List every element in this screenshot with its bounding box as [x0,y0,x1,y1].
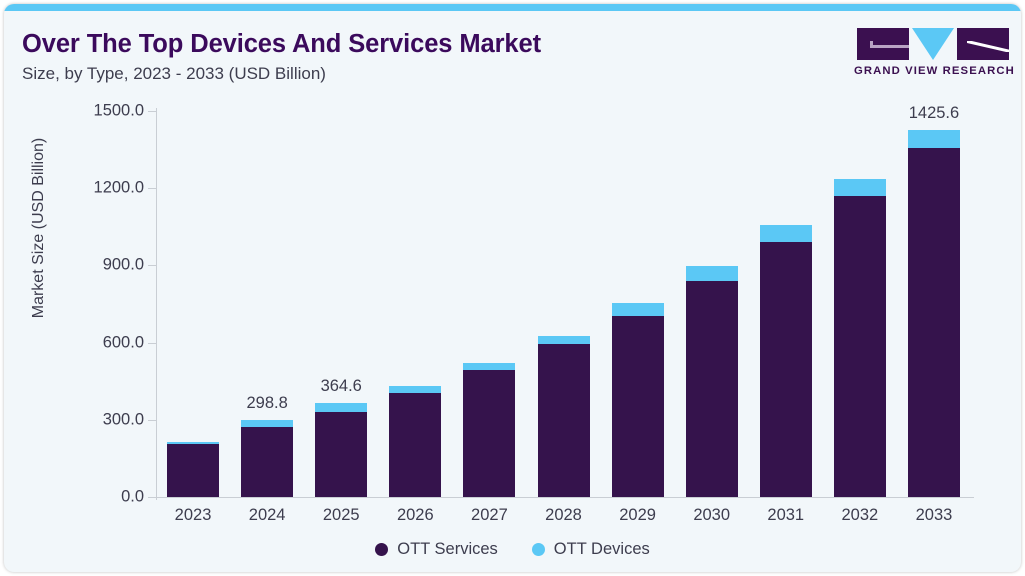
y-axis-tick-label: 1200.0 [54,179,144,198]
bar-segment-ott-services[interactable] [686,281,738,497]
x-axis-tick-label: 2033 [894,506,974,525]
bar-segment-ott-services[interactable] [908,148,960,497]
bar-group[interactable] [167,442,219,497]
bar-value-label: 364.6 [321,377,362,396]
y-axis-tick-label: 900.0 [54,256,144,275]
x-axis-tick-label: 2025 [301,506,381,525]
y-axis-tick [148,420,156,421]
y-axis-tick [148,111,156,112]
logo-triangle-icon [912,28,954,60]
logo-left-tick-icon [870,41,873,46]
legend-label: OTT Devices [554,540,650,559]
legend-swatch-icon [532,543,545,556]
bar-segment-ott-services[interactable] [760,242,812,497]
bar-segment-ott-devices[interactable] [686,266,738,281]
bar-segment-ott-services[interactable] [538,344,590,497]
bar-group[interactable]: 364.6 [315,403,367,497]
bar-segment-ott-devices[interactable] [463,363,515,370]
x-axis-line [156,497,974,498]
x-axis-tick-label: 2031 [746,506,826,525]
accent-top-bar [4,4,1021,11]
chart-legend: OTT ServicesOTT Devices [4,540,1021,559]
bar-group[interactable]: 298.8 [241,420,293,497]
bar-segment-ott-devices[interactable] [389,386,441,393]
bar-segment-ott-services[interactable] [834,196,886,497]
bar-segment-ott-devices[interactable] [538,336,590,344]
x-axis-tick-label: 2028 [524,506,604,525]
plot-area: 298.8364.61425.6 [156,111,971,497]
y-axis-tick-label: 0.0 [54,488,144,507]
bar-segment-ott-services[interactable] [612,316,664,497]
bar-segment-ott-devices[interactable] [760,225,812,242]
bar-segment-ott-devices[interactable] [241,420,293,427]
y-axis-tick [148,265,156,266]
bar-segment-ott-services[interactable] [241,427,293,497]
bar-segment-ott-services[interactable] [389,393,441,497]
logo-marks [854,28,1009,60]
y-axis-tick [148,343,156,344]
bar-group[interactable] [538,336,590,497]
bar-value-label: 1425.6 [909,104,959,123]
x-axis-tick-label: 2030 [672,506,752,525]
legend-item-ott-devices[interactable]: OTT Devices [532,540,650,559]
x-axis-tick-label: 2026 [375,506,455,525]
bar-group[interactable]: 1425.6 [908,130,960,497]
y-axis-tick-label: 300.0 [54,410,144,429]
y-axis-tick [148,188,156,189]
bar-group[interactable] [834,179,886,497]
logo-wordmark: GRAND VIEW RESEARCH [854,65,1012,77]
x-axis-tick-label: 2027 [449,506,529,525]
bar-segment-ott-devices[interactable] [612,303,664,316]
x-axis-tick-label: 2024 [227,506,307,525]
legend-swatch-icon [375,543,388,556]
bar-segment-ott-services[interactable] [463,370,515,497]
logo-right-slash-icon [967,41,1009,52]
logo-block-left-icon [857,28,909,60]
grand-view-research-logo: GRAND VIEW RESEARCH [854,28,1009,78]
bar-segment-ott-services[interactable] [167,444,219,497]
bar-segment-ott-devices[interactable] [908,130,960,148]
bar-value-label: 298.8 [246,394,287,413]
legend-item-ott-services[interactable]: OTT Services [375,540,498,559]
legend-label: OTT Services [397,540,498,559]
bar-group[interactable] [612,303,664,497]
bar-group[interactable] [686,266,738,497]
y-axis-ticks: 0.0300.0600.0900.01200.01500.0 [4,4,144,572]
x-axis-tick-label: 2032 [820,506,900,525]
logo-left-underline-icon [870,45,909,48]
y-axis-tick [148,497,156,498]
bar-group[interactable] [463,363,515,497]
x-axis-tick-label: 2023 [153,506,233,525]
x-axis-tick-label: 2029 [598,506,678,525]
bar-segment-ott-devices[interactable] [315,403,367,412]
bar-group[interactable] [760,225,812,497]
bar-group[interactable] [389,386,441,497]
y-axis-tick-label: 1500.0 [54,102,144,121]
bar-segment-ott-devices[interactable] [834,179,886,196]
y-axis-tick-label: 600.0 [54,333,144,352]
y-axis-title: Market Size (USD Billion) [30,88,48,368]
chart-card: Over The Top Devices And Services Market… [4,4,1021,572]
bar-segment-ott-services[interactable] [315,412,367,497]
